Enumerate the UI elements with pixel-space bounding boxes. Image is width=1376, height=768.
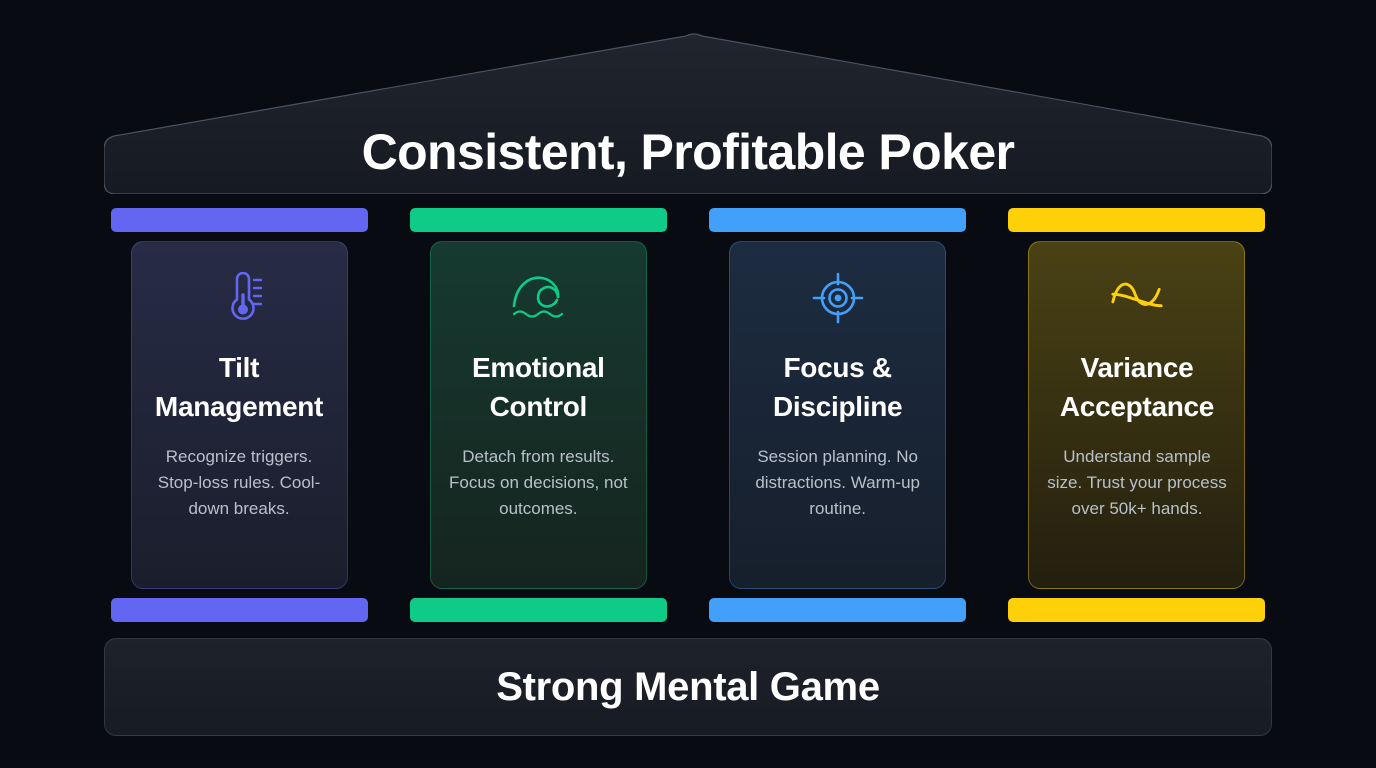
pediment-title: Consistent, Profitable Poker: [104, 122, 1272, 182]
column-title: Tilt Management: [146, 348, 333, 426]
column-description: Recognize triggers. Stop-loss rules. Coo…: [146, 444, 333, 522]
base-label: Strong Mental Game: [496, 665, 880, 710]
column-capital: [709, 208, 966, 232]
columns-row: Tilt Management Recognize triggers. Stop…: [104, 208, 1272, 626]
column-title: Focus & Discipline: [744, 348, 931, 426]
column-capital: [111, 208, 368, 232]
variance-wave-icon: [1109, 270, 1165, 326]
column-title: Variance Acceptance: [1043, 348, 1230, 426]
column-emotional-control[interactable]: Emotional Control Detach from results. F…: [403, 208, 673, 626]
column-capital: [1008, 208, 1265, 232]
stylobate-base: Strong Mental Game: [104, 638, 1272, 736]
column-capital: [410, 208, 667, 232]
column-focus-discipline[interactable]: Focus & Discipline Session planning. No …: [703, 208, 973, 626]
thermometer-icon: [211, 270, 267, 326]
column-card[interactable]: Emotional Control Detach from results. F…: [430, 241, 647, 589]
column-card[interactable]: Variance Acceptance Understand sample si…: [1028, 241, 1245, 589]
column-card[interactable]: Tilt Management Recognize triggers. Stop…: [131, 241, 348, 589]
column-description: Understand sample size. Trust your proce…: [1043, 444, 1230, 522]
column-base: [709, 598, 966, 622]
column-base: [410, 598, 667, 622]
column-base: [111, 598, 368, 622]
column-title: Emotional Control: [445, 348, 632, 426]
column-base: [1008, 598, 1265, 622]
crosshair-icon: [810, 270, 866, 326]
column-card[interactable]: Focus & Discipline Session planning. No …: [729, 241, 946, 589]
column-description: Detach from results. Focus on decisions,…: [445, 444, 632, 522]
column-description: Session planning. No distractions. Warm-…: [744, 444, 931, 522]
column-tilt-management[interactable]: Tilt Management Recognize triggers. Stop…: [104, 208, 374, 626]
column-variance-acceptance[interactable]: Variance Acceptance Understand sample si…: [1002, 208, 1272, 626]
wave-icon: [510, 270, 566, 326]
temple-diagram: Consistent, Profitable Poker Tilt Manage…: [0, 0, 1376, 768]
